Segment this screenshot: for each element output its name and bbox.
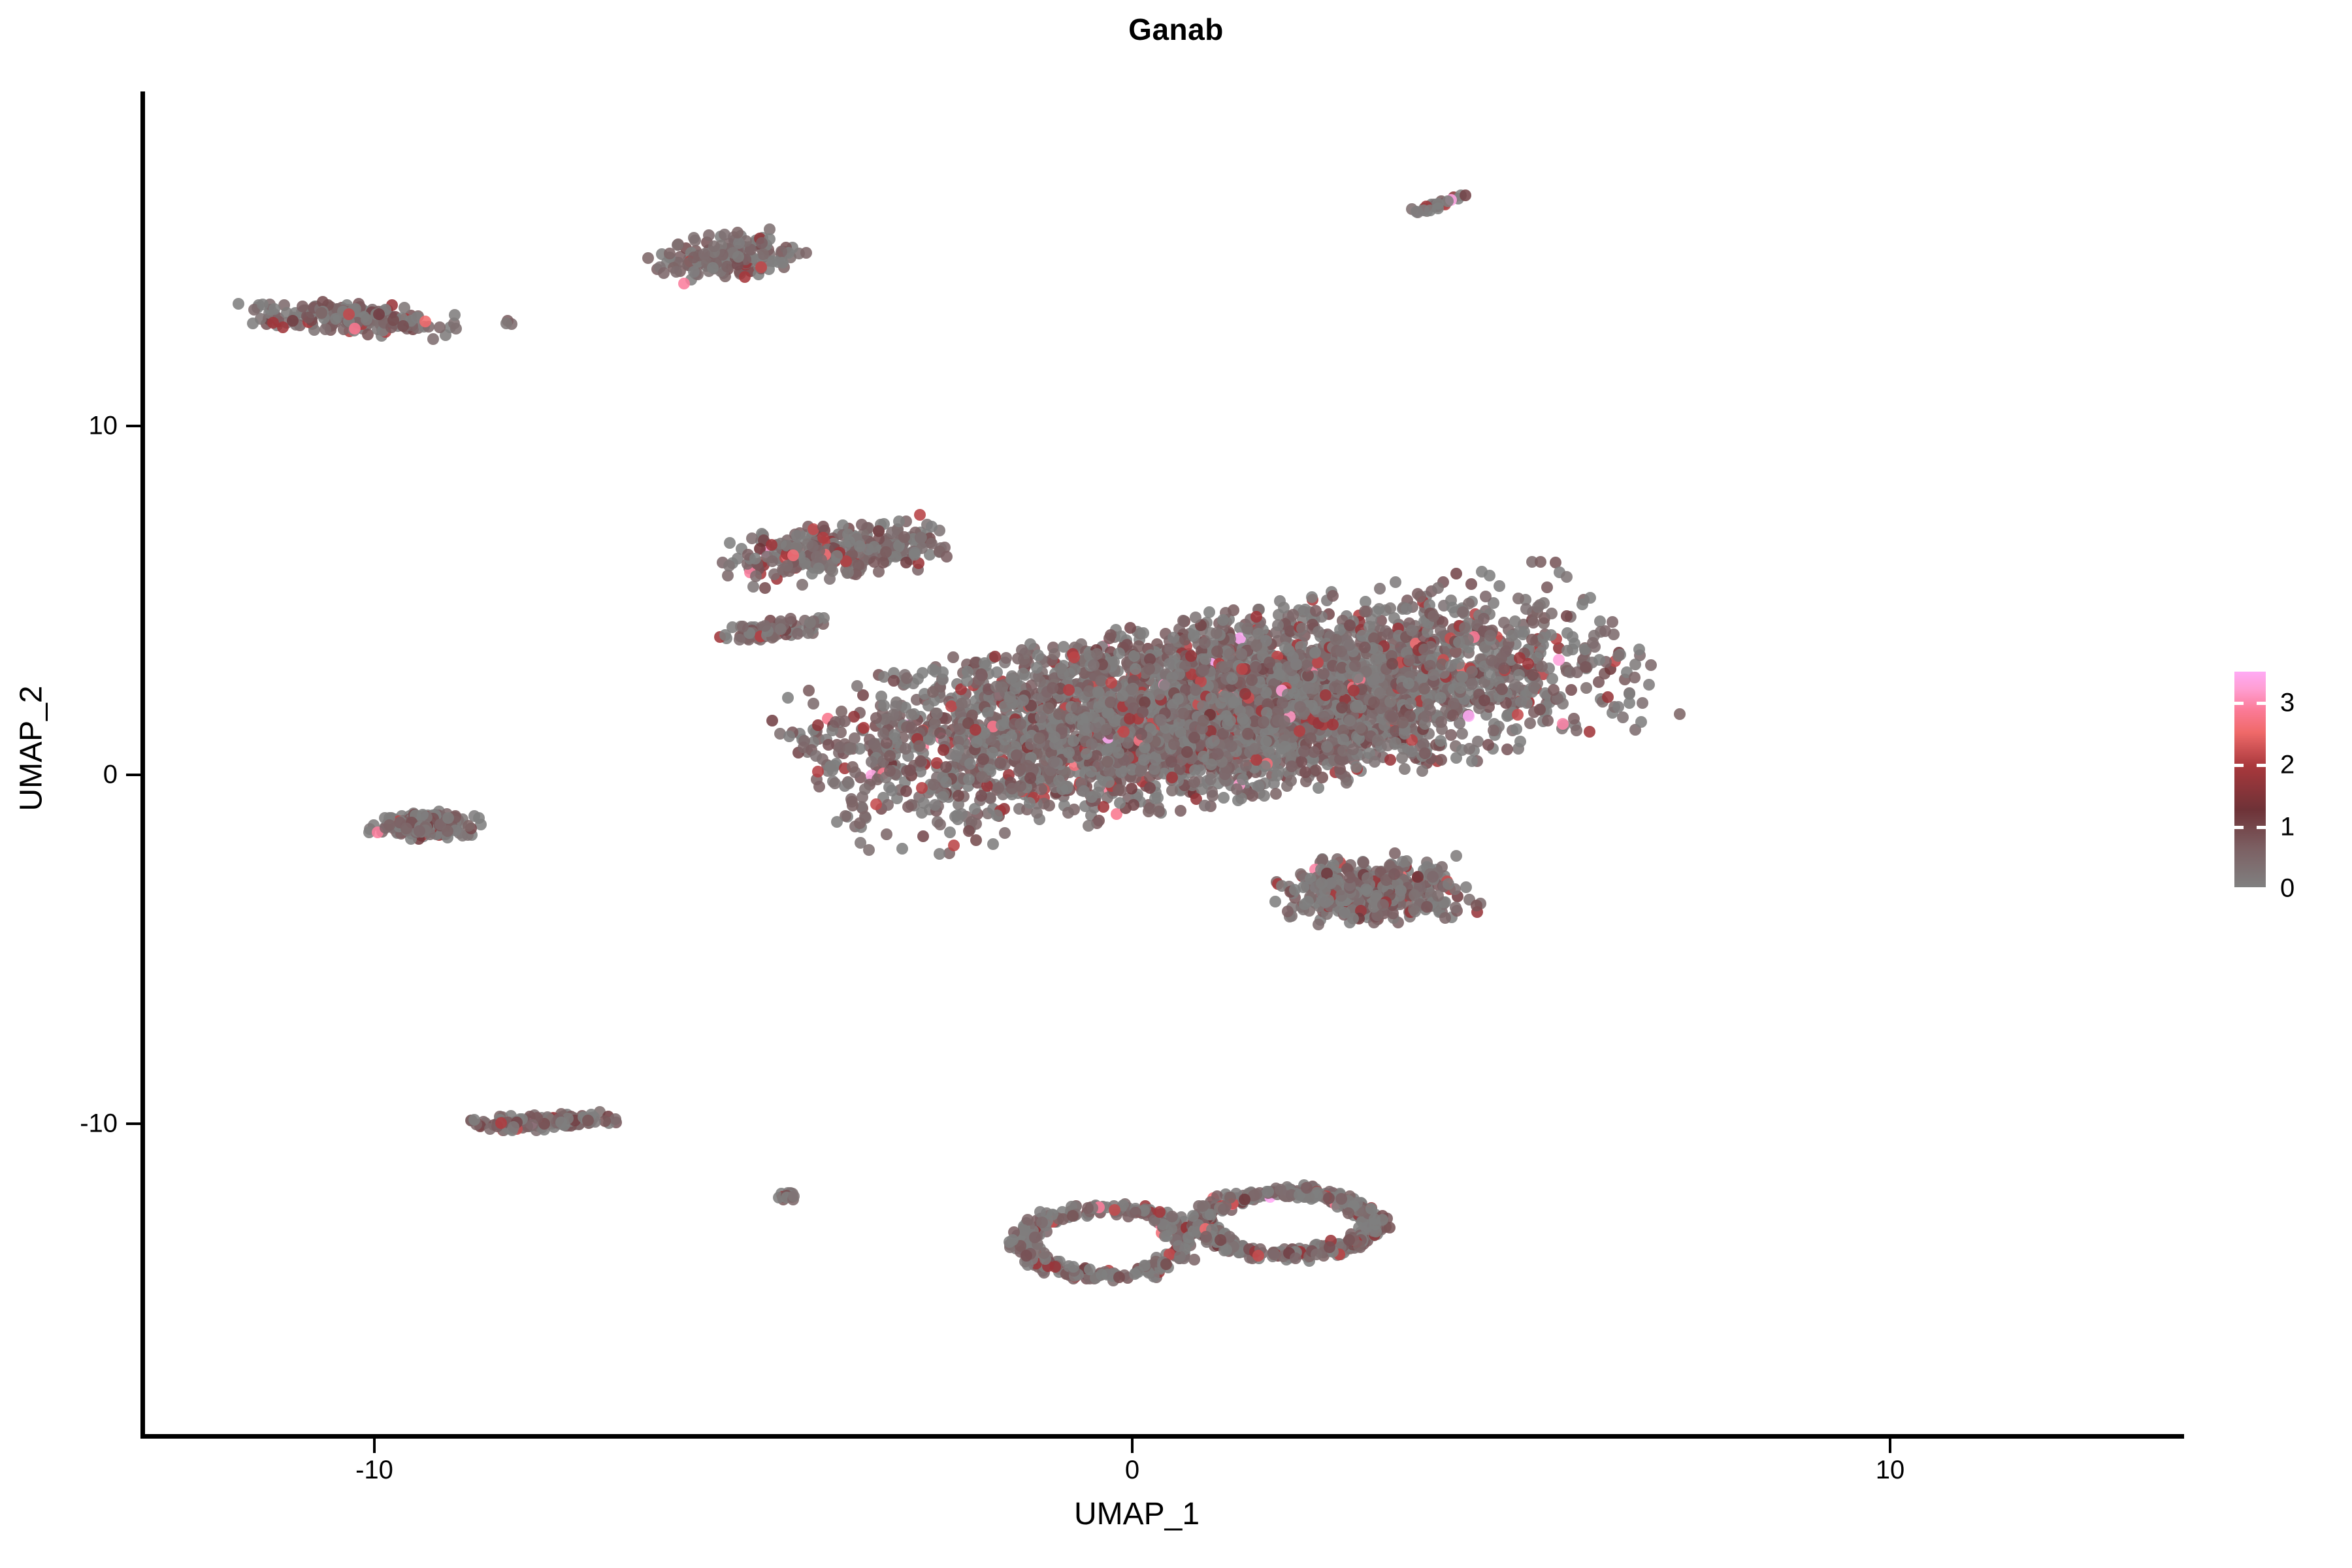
scatter-point [1432, 582, 1444, 594]
scatter-point [1218, 792, 1230, 804]
scatter-point [962, 666, 973, 678]
scatter-point [1535, 556, 1546, 568]
scatter-point [1386, 711, 1398, 723]
scatter-point [870, 712, 882, 724]
scatter-point [889, 729, 900, 741]
scatter-point [1399, 728, 1411, 740]
scatter-point [1527, 617, 1539, 629]
scatter-point [1401, 603, 1413, 615]
scatter-point [1281, 780, 1293, 792]
scatter-point [1330, 634, 1342, 645]
scatter-point [1498, 662, 1510, 674]
scatter-point [1313, 626, 1324, 638]
scatter-point [1211, 645, 1223, 657]
scatter-point [1153, 806, 1165, 817]
scatter-point [1337, 734, 1349, 745]
scatter-point [1580, 682, 1592, 694]
scatter-point [1354, 722, 1366, 734]
scatter-point [912, 673, 924, 685]
scatter-point [1279, 728, 1290, 740]
scatter-point [1226, 673, 1238, 685]
scatter-point [1278, 602, 1290, 613]
scatter-point [877, 728, 889, 740]
scatter-point [756, 237, 768, 249]
scatter-point [1234, 705, 1246, 717]
scatter-point [1239, 688, 1251, 700]
scatter-point [934, 848, 945, 860]
scatter-point [1637, 697, 1648, 709]
scatter-point [940, 776, 952, 788]
scatter-point [658, 267, 670, 279]
scatter-point [1246, 674, 1258, 686]
scatter-point [297, 301, 308, 312]
scatter-point [1602, 691, 1614, 703]
scatter-point [750, 570, 762, 582]
scatter-point [948, 840, 960, 851]
scatter-point [746, 532, 758, 544]
scatter-point [724, 537, 736, 549]
scatter-point [1012, 653, 1024, 664]
scatter-point [1399, 763, 1411, 775]
scatter-point [1135, 728, 1147, 740]
scatter-point [739, 271, 751, 283]
scatter-point [1235, 648, 1247, 660]
scatter-point [1459, 622, 1471, 634]
scatter-point [1484, 668, 1495, 680]
scatter-point [1031, 807, 1043, 819]
scatter-point [1271, 770, 1283, 781]
scatter-point [937, 666, 949, 678]
scatter-point [1270, 788, 1282, 800]
scatter-point [992, 782, 1004, 794]
scatter-point [766, 715, 778, 727]
scatter-point [945, 700, 957, 712]
scatter-point [1258, 790, 1270, 802]
scatter-point [1290, 659, 1302, 670]
scatter-point [964, 758, 976, 770]
scatter-point [1486, 655, 1497, 666]
scatter-point [1126, 783, 1137, 794]
scatter-point [1541, 581, 1553, 593]
scatter-point [1424, 704, 1436, 716]
scatter-point [989, 651, 1001, 662]
scatter-point [1286, 760, 1298, 772]
scatter-point [1546, 673, 1558, 685]
scatter-point [1032, 649, 1044, 661]
scatter-point [1188, 776, 1200, 788]
scatter-point [782, 692, 794, 704]
scatter-point [1435, 692, 1446, 704]
scatter-point [719, 229, 730, 240]
scatter-point [1532, 601, 1544, 613]
scatter-point [269, 303, 280, 315]
scatter-point [1480, 591, 1492, 602]
scatter-point [1405, 698, 1416, 710]
scatter-point [1264, 657, 1275, 668]
scatter-point [976, 670, 988, 681]
scatter-point [1299, 766, 1311, 778]
scatter-point [826, 565, 838, 577]
scatter-point [1501, 743, 1513, 755]
scatter-point [1329, 681, 1341, 693]
scatter-point [859, 783, 871, 795]
scatter-point [1514, 736, 1526, 747]
scatter-point [1155, 714, 1167, 726]
scatter-point [1250, 640, 1262, 651]
scatter-point [1356, 630, 1368, 642]
scatter-point [1166, 772, 1178, 783]
scatter-point [1173, 668, 1185, 680]
scatter-point [1645, 659, 1657, 671]
scatter-point [1166, 756, 1177, 768]
scatter-point [971, 736, 983, 748]
scatter-point [1584, 726, 1595, 738]
scatter-point [929, 799, 941, 811]
scatter-points-layer [144, 91, 2182, 1434]
scatter-point [1036, 783, 1047, 795]
scatter-point [1166, 785, 1178, 796]
scatter-point [703, 229, 715, 241]
scatter-point [678, 278, 690, 289]
scatter-point [267, 317, 279, 329]
scatter-point [1118, 726, 1130, 738]
scatter-point [1445, 729, 1457, 741]
scatter-point [755, 261, 767, 273]
scatter-point [1482, 739, 1494, 751]
scatter-point [387, 314, 399, 326]
scatter-point [882, 799, 894, 811]
plot-panel [144, 91, 2182, 1434]
scatter-point [1068, 651, 1080, 663]
scatter-point [1466, 755, 1478, 767]
scatter-point [808, 698, 819, 710]
scatter-point [916, 807, 928, 819]
scatter-point [1058, 641, 1070, 653]
scatter-point [1397, 717, 1409, 728]
scatter-point [1091, 648, 1103, 660]
scatter-point [970, 724, 981, 736]
scatter-point [866, 756, 877, 768]
scatter-point [723, 560, 735, 572]
scatter-point [1288, 687, 1300, 699]
scatter-point [1624, 697, 1635, 709]
scatter-point [999, 827, 1011, 839]
scatter-point [1006, 783, 1018, 794]
scatter-point [1465, 578, 1477, 590]
scatter-point [963, 825, 975, 837]
scatter-point [969, 803, 981, 815]
scatter-point [1250, 754, 1262, 766]
scatter-point [944, 826, 956, 838]
scatter-point [302, 312, 314, 323]
scatter-point [1384, 696, 1396, 708]
scatter-point [916, 782, 928, 794]
scatter-point [1298, 745, 1310, 757]
scatter-point [1446, 602, 1458, 613]
scatter-point [803, 685, 815, 696]
scatter-point [855, 837, 866, 849]
scatter-point [1124, 622, 1136, 634]
scatter-point [800, 247, 812, 259]
scatter-point [934, 819, 946, 830]
scatter-point [1047, 682, 1058, 694]
scatter-point [1536, 661, 1548, 672]
scatter-point [1571, 725, 1582, 736]
scatter-point [917, 830, 929, 842]
scatter-point [1359, 606, 1371, 617]
scatter-point [1241, 623, 1253, 634]
scatter-point [1435, 625, 1446, 636]
scatter-point [1514, 652, 1526, 664]
scatter-point [947, 651, 959, 663]
scatter-point [427, 333, 439, 345]
scatter-point [1435, 754, 1447, 766]
scatter-point [976, 771, 988, 783]
scatter-point [1103, 776, 1115, 788]
scatter-point [1411, 206, 1422, 218]
scatter-point [1219, 768, 1231, 780]
scatter-point [721, 261, 733, 272]
scatter-point [1454, 717, 1465, 729]
scatter-point [1211, 627, 1222, 639]
scatter-point [1083, 820, 1094, 832]
scatter-point [896, 843, 908, 855]
scatter-point [1524, 717, 1536, 729]
scatter-point [1168, 632, 1179, 644]
scatter-point [1263, 746, 1275, 758]
scatter-point [839, 715, 851, 727]
scatter-point [1643, 679, 1655, 691]
scatter-point [1117, 690, 1128, 702]
scatter-point [1279, 741, 1291, 753]
scatter-point [1512, 709, 1524, 721]
scatter-point [906, 722, 917, 734]
scatter-point [1403, 655, 1415, 666]
scatter-point [1296, 623, 1308, 634]
scatter-point [868, 738, 880, 749]
scatter-point [1526, 634, 1538, 645]
scatter-point [1085, 766, 1097, 777]
scatter-point [881, 828, 892, 840]
scatter-point [1511, 723, 1522, 735]
scatter-point [902, 801, 914, 813]
scatter-point [1515, 696, 1527, 708]
scatter-point [1416, 765, 1428, 777]
scatter-point [1015, 763, 1026, 775]
scatter-point [1198, 751, 1209, 762]
scatter-point [1435, 716, 1447, 728]
scatter-point [1349, 660, 1361, 672]
scatter-point [996, 719, 1007, 731]
scatter-point [1053, 775, 1065, 787]
scatter-point [906, 709, 917, 721]
scatter-point [747, 581, 759, 593]
scatter-point [343, 308, 355, 320]
scatter-point [1612, 650, 1624, 662]
scatter-point [759, 582, 771, 594]
scatter-point [1453, 636, 1465, 648]
scatter-point [1105, 629, 1117, 641]
scatter-point [1017, 694, 1029, 706]
scatter-point [845, 742, 857, 754]
scatter-point [1557, 718, 1569, 730]
scatter-point [1188, 630, 1200, 642]
scatter-point [349, 323, 361, 335]
scatter-point [1327, 590, 1339, 602]
scatter-point [1350, 761, 1362, 773]
scatter-point [1199, 800, 1211, 811]
scatter-point [909, 549, 921, 561]
scatter-point [1164, 658, 1175, 670]
scatter-point [1200, 653, 1211, 665]
scatter-point [1384, 754, 1396, 766]
scatter-point [1207, 790, 1218, 802]
scatter-point [1457, 606, 1469, 618]
scatter-point [1102, 744, 1113, 756]
scatter-point [732, 227, 743, 238]
scatter-point [1015, 718, 1026, 730]
scatter-point [1561, 571, 1573, 583]
scatter-point [1344, 619, 1356, 631]
scatter-point [1258, 716, 1269, 728]
scatter-point [870, 798, 882, 810]
scatter-point [1231, 783, 1243, 795]
scatter-point [1419, 747, 1431, 759]
scatter-point [994, 757, 1006, 769]
scatter-point [1212, 748, 1224, 760]
scatter-point [953, 790, 964, 802]
scatter-point [1113, 647, 1125, 659]
scatter-point [1674, 708, 1686, 720]
scatter-point [991, 809, 1003, 821]
scatter-point [500, 318, 512, 329]
scatter-point [1203, 606, 1215, 618]
scatter-point [938, 744, 949, 756]
scatter-point [1172, 693, 1184, 705]
scatter-point [1198, 715, 1209, 727]
scatter-point [1135, 765, 1147, 777]
scatter-point [813, 781, 825, 792]
scatter-point [1250, 661, 1262, 673]
scatter-point [1150, 754, 1162, 766]
scatter-point [1133, 640, 1145, 652]
scatter-point [1542, 715, 1554, 727]
scatter-point [1484, 630, 1496, 642]
scatter-point [987, 838, 999, 850]
scatter-point [698, 248, 710, 260]
scatter-point [900, 743, 911, 755]
scatter-point [1369, 756, 1380, 768]
scatter-point [952, 813, 964, 825]
scatter-point [1228, 604, 1239, 616]
scatter-point [1617, 711, 1629, 723]
scatter-point [688, 232, 700, 244]
scatter-point [1432, 198, 1444, 210]
scatter-point [1565, 684, 1577, 696]
scatter-point [1318, 668, 1330, 679]
scatter-point [1130, 663, 1141, 675]
scatter-point [1194, 764, 1206, 776]
scatter-point [1011, 749, 1022, 761]
scatter-point [1635, 716, 1647, 728]
scatter-point [1249, 743, 1261, 755]
scatter-point [1088, 711, 1100, 723]
scatter-point [823, 739, 834, 751]
scatter-point [1128, 799, 1139, 811]
scatter-point [449, 309, 461, 321]
scatter-point [1260, 736, 1272, 747]
scatter-point [1043, 800, 1055, 811]
scatter-point [928, 779, 939, 791]
scatter-point [843, 777, 855, 789]
scatter-point [1388, 612, 1400, 624]
scatter-point [851, 680, 863, 692]
scatter-point [1024, 772, 1036, 784]
scatter-point [1546, 608, 1558, 619]
scatter-point [1065, 713, 1077, 725]
scatter-point [1024, 797, 1036, 809]
scatter-point [434, 321, 446, 333]
scatter-point [1279, 715, 1290, 727]
scatter-point [831, 816, 843, 828]
scatter-point [1422, 626, 1433, 638]
scatter-point [233, 298, 244, 310]
scatter-point [1205, 774, 1217, 785]
scatter-point [1612, 701, 1624, 713]
scatter-point [878, 700, 890, 711]
scatter-point [913, 740, 925, 752]
scatter-point [1488, 725, 1499, 736]
scatter-point [688, 266, 700, 278]
scatter-point [950, 750, 962, 762]
scatter-point [1305, 732, 1316, 744]
scatter-point [1466, 678, 1478, 690]
scatter-point [1494, 580, 1505, 592]
scatter-point [1450, 568, 1462, 580]
scatter-point [1528, 681, 1540, 693]
scatter-point [847, 800, 858, 811]
page-title: Ganab [0, 12, 2352, 47]
scatter-point [1460, 189, 1471, 201]
scatter-point [1593, 676, 1605, 688]
scatter-point [941, 551, 953, 563]
scatter-point [1403, 678, 1414, 689]
scatter-point [1513, 669, 1525, 681]
scatter-point [1587, 637, 1599, 649]
scatter-point [1005, 730, 1017, 742]
scatter-point [1359, 642, 1371, 653]
scatter-point [1219, 661, 1231, 673]
scatter-point [1294, 701, 1306, 713]
scatter-point [1143, 806, 1154, 817]
scatter-point [1272, 619, 1284, 631]
scatter-point [1350, 701, 1362, 713]
scatter-point [1535, 647, 1546, 659]
scatter-point [1371, 644, 1383, 656]
scatter-point [1372, 734, 1384, 746]
scatter-point [783, 730, 795, 742]
scatter-point [642, 252, 654, 264]
scatter-point [1031, 662, 1043, 674]
scatter-point [670, 266, 682, 278]
scatter-point [810, 750, 822, 762]
scatter-point [1190, 684, 1201, 696]
scatter-point [1428, 610, 1439, 622]
scatter-point [1226, 740, 1237, 752]
scatter-point [1418, 683, 1430, 694]
scatter-point [1501, 710, 1513, 722]
scatter-point [900, 785, 912, 797]
